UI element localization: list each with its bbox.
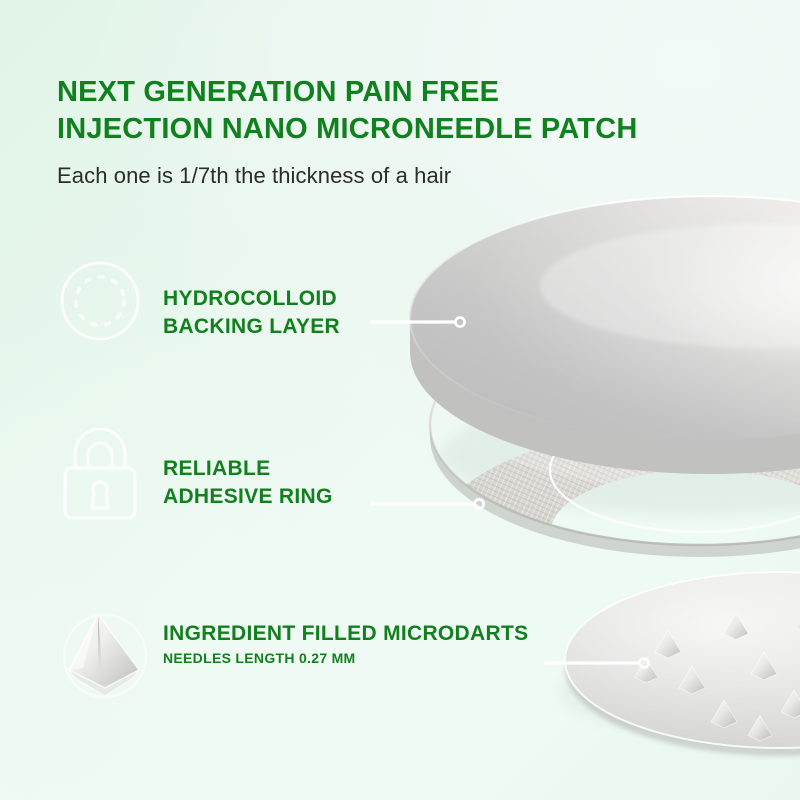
poster-canvas: NEXT GENERATION PAIN FREE INJECTION NANO… (0, 0, 800, 800)
headline-line-2: INJECTION NANO MICRONEEDLE PATCH (57, 111, 677, 148)
product-layer-adhesive-ring (400, 230, 800, 557)
microdart-cone-icon (57, 604, 153, 709)
feature-label: HYDROCOLLOID BACKING LAYER (163, 285, 340, 341)
leader-line-adhesive (372, 499, 484, 508)
feature-title-line-1: RELIABLE (163, 457, 270, 480)
microdart-array (634, 607, 800, 741)
page-subtitle: Each one is 1/7th the thickness of a hai… (57, 162, 451, 190)
leader-line-microdart (545, 658, 649, 667)
feature-label: RELIABLE ADHESIVE RING (163, 455, 333, 511)
leader-lines (372, 317, 649, 667)
feature-subtitle: NEEDLES LENGTH 0.27 MM (163, 650, 356, 666)
product-layer-backing-disc (410, 196, 800, 474)
product-layer-microdart-disc (565, 572, 800, 756)
feature-label: INGREDIENT FILLED MICRODARTS NEEDLES LEN… (163, 620, 528, 668)
headline-line-1: NEXT GENERATION PAIN FREE (57, 76, 499, 108)
feature-title-line-1: INGREDIENT FILLED MICRODARTS (163, 622, 528, 645)
page-title: NEXT GENERATION PAIN FREE INJECTION NANO… (57, 74, 677, 148)
feature-title-line-1: HYDROCOLLOID (163, 287, 337, 310)
dashed-circle-icon (57, 258, 143, 349)
feature-title-line-2: BACKING LAYER (163, 315, 340, 338)
padlock-icon (57, 428, 143, 529)
leader-line-backing (372, 317, 465, 326)
feature-title-line-2: ADHESIVE RING (163, 485, 333, 508)
